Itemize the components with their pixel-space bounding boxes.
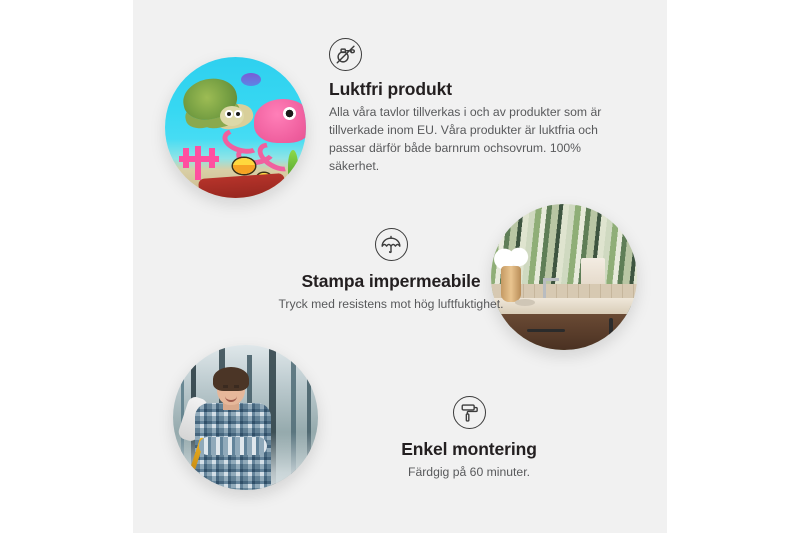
- feature-description: Tryck med resistens mot hög luftfuktighe…: [221, 296, 561, 314]
- product-photo-painter[interactable]: [173, 345, 318, 490]
- feature-title: Luktfri produkt: [329, 79, 627, 100]
- blue-fish-shape: [241, 73, 261, 86]
- person-eyes-shape: [223, 385, 239, 388]
- coral-shape: [179, 146, 219, 180]
- seaweed-shape: [288, 150, 298, 182]
- octopus-shape: [254, 99, 306, 143]
- feature-description: Alla våra tavlor tillverkas i och av pro…: [329, 104, 627, 176]
- yellow-fish-shape: [233, 158, 255, 174]
- left-white-margin: [0, 0, 133, 533]
- door-handle-shape: [609, 318, 613, 344]
- feature-description: Färdgig på 60 minuter.: [323, 464, 615, 482]
- feature-assembly: Enkel montering Färdgig på 60 minuter.: [323, 396, 615, 482]
- feature-waterproof: Stampa impermeabile Tryck med resistens …: [221, 228, 561, 314]
- person-arms-shape: [199, 437, 267, 455]
- sea-turtle-head-shape: [220, 106, 244, 126]
- content-canvas: Luktfri produkt Alla våra tavlor tillver…: [133, 0, 667, 533]
- feature-title: Enkel montering: [323, 439, 615, 460]
- vanity-cabinet-shape: [491, 314, 637, 350]
- feature-odourless: Luktfri produkt Alla våra tavlor tillver…: [329, 38, 627, 176]
- drawer-handle-shape: [527, 329, 565, 332]
- product-photo-undersea[interactable]: [165, 57, 306, 198]
- right-white-margin: [667, 0, 800, 533]
- product-feature-panel: Luktfri produkt Alla våra tavlor tillver…: [0, 0, 800, 533]
- umbrella-icon: [375, 228, 408, 261]
- no-smell-perfume-icon: [329, 38, 362, 71]
- octopus-eye-shape: [283, 107, 296, 120]
- paint-roller-icon: [453, 396, 486, 429]
- feature-title: Stampa impermeabile: [221, 271, 561, 292]
